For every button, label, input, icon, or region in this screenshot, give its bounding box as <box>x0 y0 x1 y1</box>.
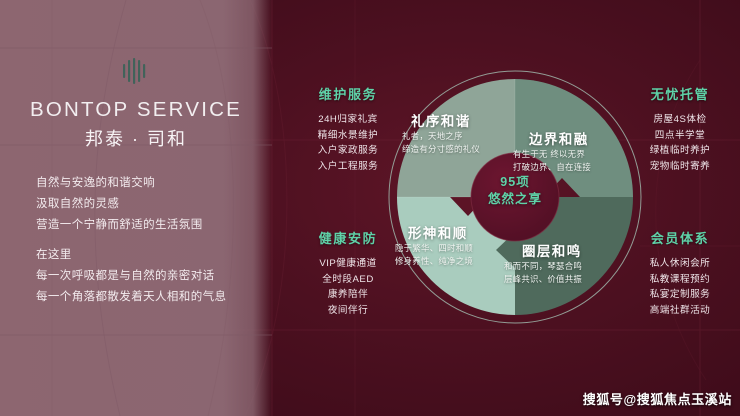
quadrant-sub-line: 打破边界、自在连接 <box>513 161 591 174</box>
slide-canvas: BONTOP SERVICE 邦泰 · 司和 自然与安逸的和谐交响 汲取自然的灵… <box>0 0 740 416</box>
intro-line: 每一个角落都散发着天人相和的气息 <box>36 287 272 308</box>
quadrant-title-xingshen: 形神和顺 <box>408 222 468 242</box>
quadrant-sub-line: 有生于无 终以无界 <box>513 148 591 161</box>
quadrant-sub-line: 层峰共识、价值共振 <box>504 273 582 286</box>
quadrant-title-bianjie: 边界和融 <box>529 128 589 148</box>
quadrant-subtitle-xingshen: 隐于繁华、四时和顺 修身养性、纯净之境 <box>395 242 473 268</box>
intro-copy-block: 自然与安逸的和谐交响 汲取自然的灵感 营造一个宁静而舒适的生活氛围 在这里 每一… <box>0 173 272 308</box>
fan-bars-icon <box>120 58 152 84</box>
intro-line: 自然与安逸的和谐交响 <box>36 173 272 194</box>
intro-line: 汲取自然的灵感 <box>36 194 272 215</box>
quadrant-subtitle-bianjie: 有生于无 终以无界 打破边界、自在连接 <box>513 148 591 174</box>
intro-line: 在这里 <box>36 245 272 266</box>
quadrant-subtitle-lixu: 礼者，天地之序 缔造有分寸感的礼仪 <box>402 130 480 156</box>
quadrant-subtitle-quanceng: 和而不同，琴瑟合鸣 层峰共识、价值共振 <box>504 260 582 286</box>
quadrant-sub-line: 和而不同，琴瑟合鸣 <box>504 260 582 273</box>
brand-title-en: BONTOP SERVICE <box>30 98 242 122</box>
quadrant-title-lixu: 礼序和谐 <box>411 110 471 130</box>
quadrant-sub-line: 隐于繁华、四时和顺 <box>395 242 473 255</box>
quadrant-sub-line: 修身养性、纯净之境 <box>395 255 473 268</box>
intro-spacer <box>36 236 272 245</box>
quadrant-sub-line: 礼者，天地之序 <box>402 130 480 143</box>
left-panel-content: BONTOP SERVICE 邦泰 · 司和 自然与安逸的和谐交响 汲取自然的灵… <box>0 0 272 416</box>
center-count: 95项 <box>476 174 554 191</box>
center-label: 95项 悠然之享 <box>476 174 554 208</box>
quadrant-title-quanceng: 圈层和鸣 <box>522 240 582 260</box>
intro-line: 营造一个宁静而舒适的生活氛围 <box>36 215 272 236</box>
watermark-text: 搜狐号@搜狐焦点玉溪站 <box>583 389 732 408</box>
quadrant-sub-line: 缔造有分寸感的礼仪 <box>402 143 480 156</box>
center-caption: 悠然之享 <box>476 191 554 208</box>
brand-title-cn: 邦泰 · 司和 <box>85 125 187 151</box>
pinwheel-diagram: 礼序和谐 礼者，天地之序 缔造有分寸感的礼仪 边界和融 有生于无 终以无界 打破… <box>384 66 646 328</box>
intro-line: 每一次呼吸都是与自然的亲密对话 <box>36 266 272 287</box>
